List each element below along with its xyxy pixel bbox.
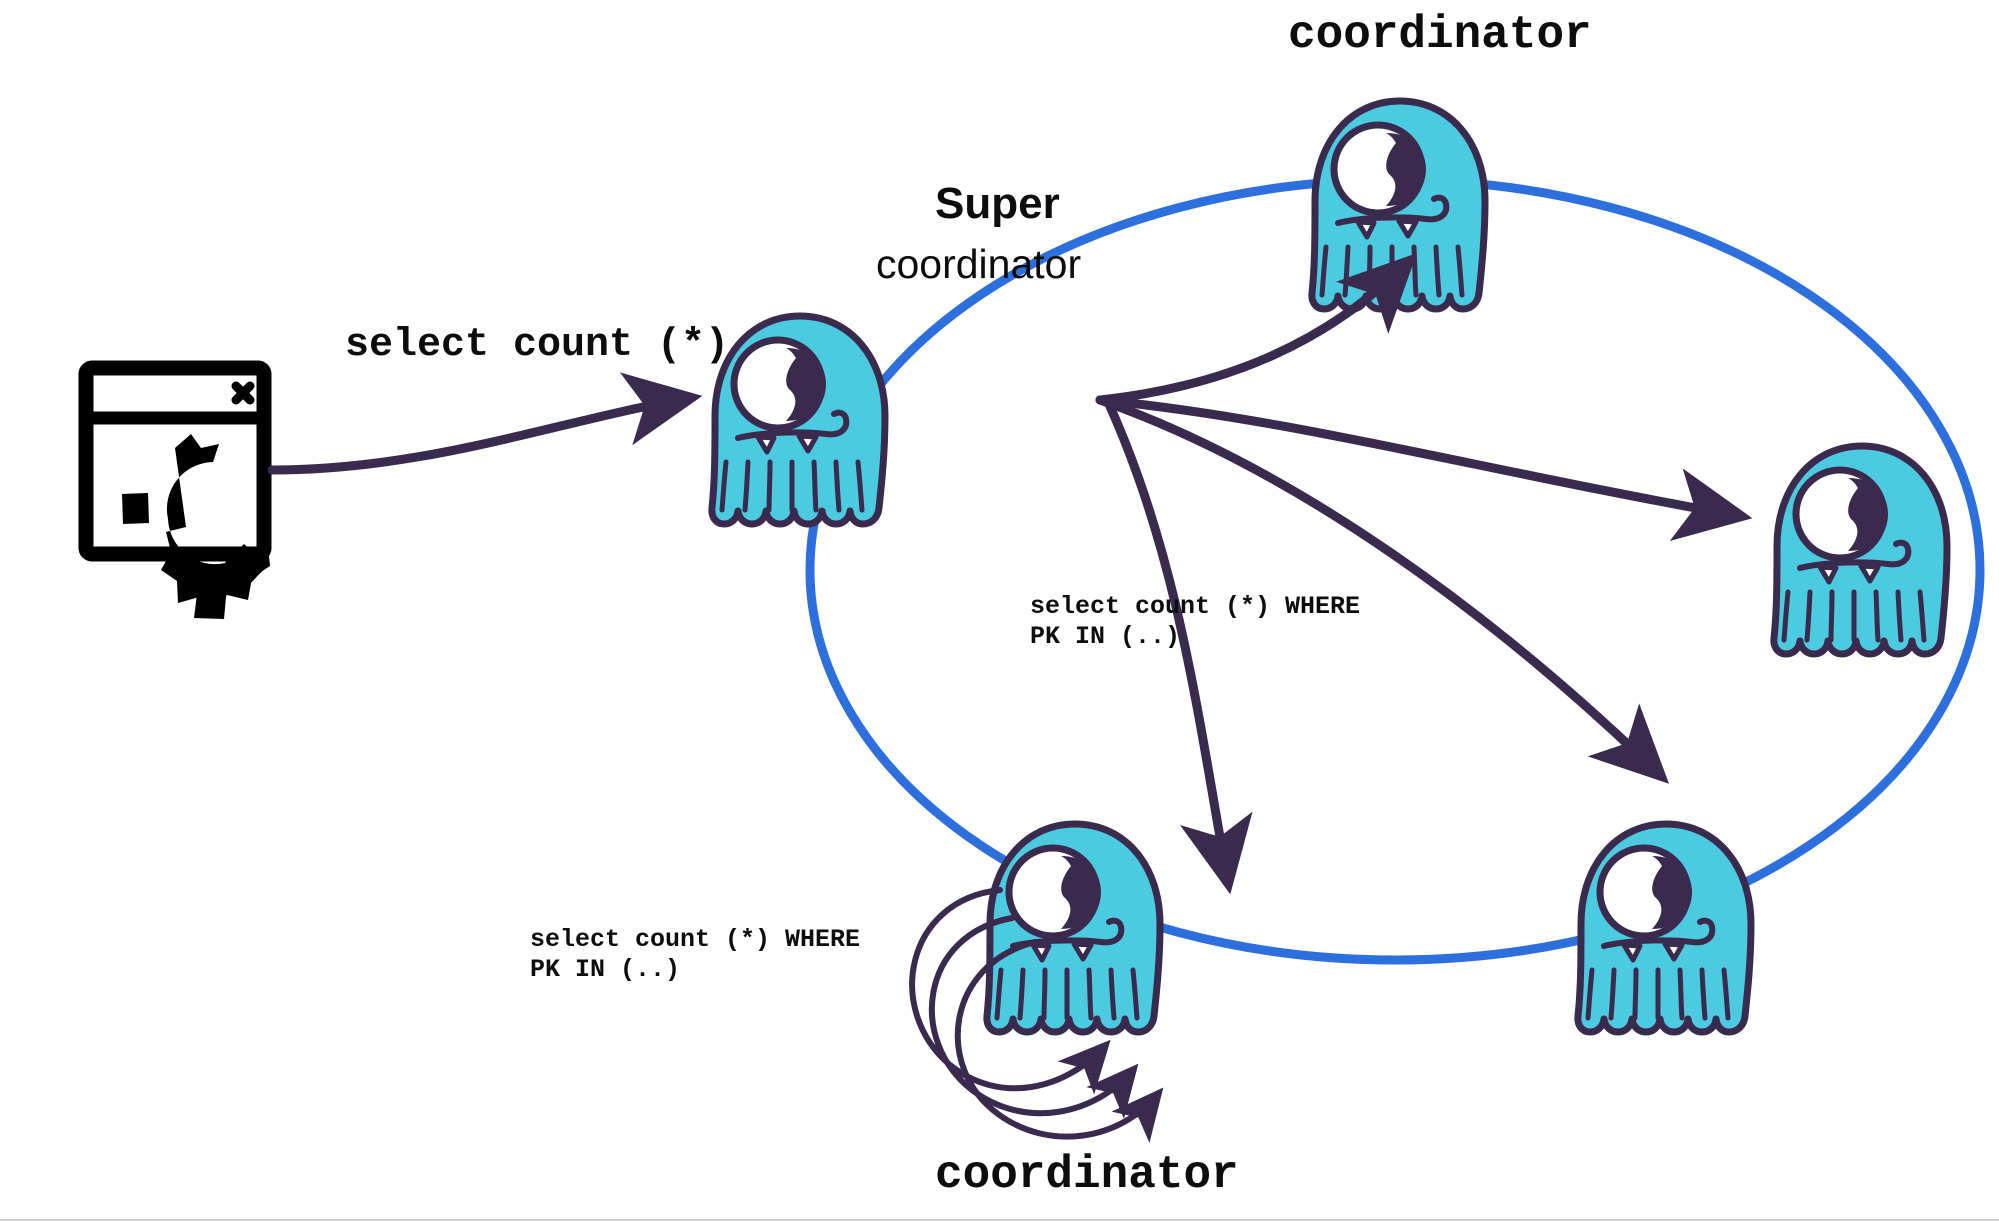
edge-super-to-top: [1100, 262, 1408, 400]
label-coordinator-top: coordinator: [1288, 8, 1592, 62]
label-super-title: Super: [935, 178, 1060, 230]
label-subquery-middle-line1: select count (*) WHERE: [1030, 592, 1360, 621]
edge-super-to-bottom-right: [1100, 400, 1660, 775]
label-subquery-middle-line2: PK IN (..): [1030, 622, 1180, 651]
self-loop-3: [958, 942, 1158, 1137]
label-subquery-middle: select count (*) WHEREPK IN (..): [1030, 592, 1360, 651]
label-subquery-bottom-line1: select count (*) WHERE: [530, 925, 860, 954]
label-subquery-bottom-line2: PK IN (..): [530, 955, 680, 984]
label-super-subtitle: coordinator: [876, 240, 1081, 288]
diagram-canvas: coordinator Super coordinator select cou…: [0, 0, 1999, 1221]
edge-client-to-super: [272, 398, 690, 470]
edge-super-to-right: [1100, 400, 1740, 516]
label-coordinator-bottom: coordinator: [935, 1148, 1239, 1202]
label-subquery-bottom: select count (*) WHEREPK IN (..): [530, 925, 860, 984]
label-client-query: select count (*): [345, 322, 729, 369]
